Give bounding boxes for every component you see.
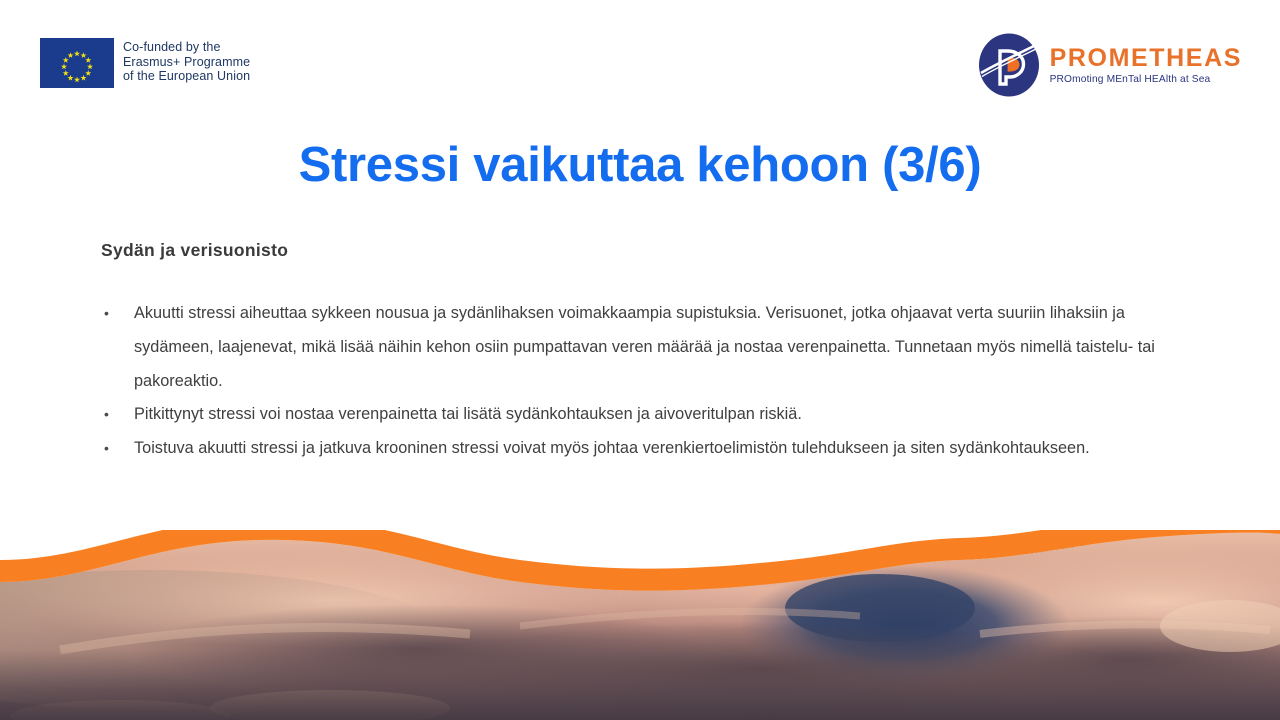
bullet-list: Akuutti stressi aiheuttaa sykkeen nousua… bbox=[101, 297, 1191, 466]
bullet-item: Akuutti stressi aiheuttaa sykkeen nousua… bbox=[101, 297, 1191, 398]
section-subheading: Sydän ja verisuonisto bbox=[101, 240, 1191, 261]
eu-erasmus-logo: Co-funded by the Erasmus+ Programme of t… bbox=[40, 38, 250, 88]
slide-body: Sydän ja verisuonisto Akuutti stressi ai… bbox=[101, 240, 1191, 466]
prometheas-wordmark: PROMETHEAS PROmoting MEnTal HEAlth at Se… bbox=[1050, 45, 1242, 84]
decorative-seascape-band bbox=[0, 530, 1280, 720]
bullet-item: Toistuva akuutti stressi ja jatkuva kroo… bbox=[101, 432, 1191, 466]
prometheas-logo: PROMETHEAS PROmoting MEnTal HEAlth at Se… bbox=[976, 32, 1242, 98]
page-title: Stressi vaikuttaa kehoon (3/6) bbox=[0, 137, 1280, 193]
presentation-slide: Co-funded by the Erasmus+ Programme of t… bbox=[0, 0, 1280, 720]
eu-logo-line-2: Erasmus+ Programme bbox=[123, 55, 250, 70]
seascape-photo bbox=[0, 530, 1280, 720]
prometheas-tagline: PROmoting MEnTal HEAlth at Sea bbox=[1050, 75, 1242, 85]
prometheas-emblem-icon bbox=[976, 32, 1042, 98]
eu-logo-line-3: of the European Union bbox=[123, 69, 250, 84]
eu-logo-line-1: Co-funded by the bbox=[123, 40, 250, 55]
eu-flag-icon bbox=[40, 38, 114, 88]
prometheas-name: PROMETHEAS bbox=[1050, 45, 1242, 71]
bullet-item: Pitkittynyt stressi voi nostaa verenpain… bbox=[101, 398, 1191, 432]
eu-logo-text: Co-funded by the Erasmus+ Programme of t… bbox=[123, 38, 250, 84]
